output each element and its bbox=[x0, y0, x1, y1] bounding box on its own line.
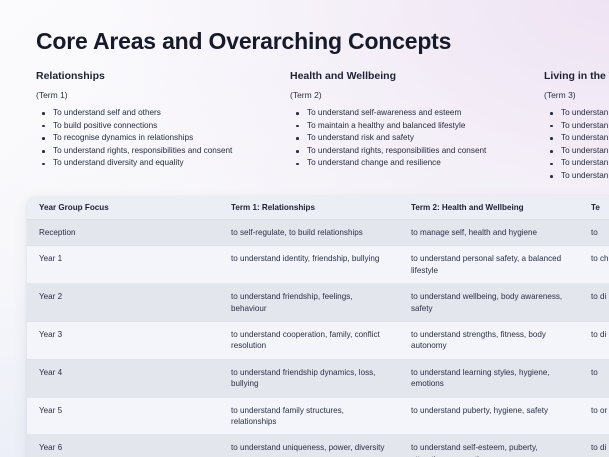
bullet-dot-icon bbox=[296, 163, 299, 166]
list-item: To understand risk and safety bbox=[290, 132, 544, 145]
bullet-dot-icon bbox=[42, 163, 45, 166]
list-item: To understand rights, responsibilities a… bbox=[36, 145, 290, 158]
column-header-term-3: Te bbox=[579, 196, 609, 220]
bullet-dot-icon bbox=[550, 175, 553, 178]
bullet-list-living-in-the-wider-world: To understan To understan To understan T… bbox=[544, 107, 609, 183]
bullet-dot-icon bbox=[296, 125, 299, 128]
cell-term-1: to understand uniqueness, power, diversi… bbox=[219, 435, 399, 457]
cell-term-3: to bbox=[579, 220, 609, 246]
column-heading: Health and Wellbeing bbox=[290, 70, 544, 82]
list-item: To understand rights, responsibilities a… bbox=[290, 145, 544, 158]
list-item: To maintain a healthy and balanced lifes… bbox=[290, 120, 544, 133]
cell-term-3: to di bbox=[579, 322, 609, 360]
list-item-label: To understan bbox=[561, 158, 608, 167]
cell-term-2: to understand strengths, fitness, body a… bbox=[399, 322, 579, 360]
column-term-label: (Term 1) bbox=[36, 90, 290, 100]
core-area-column-living-in-the-wider-world: Living in the W (Term 3) To understan To… bbox=[544, 70, 609, 183]
cell-term-3: to di bbox=[579, 435, 609, 457]
list-item-label: To understand rights, responsibilities a… bbox=[53, 146, 232, 155]
cell-term-1: to understand family structures, relatio… bbox=[219, 397, 399, 435]
cell-term-1: to understand cooperation, family, confl… bbox=[219, 322, 399, 360]
list-item: To understan bbox=[544, 107, 609, 120]
list-item: To build positive connections bbox=[36, 120, 290, 133]
column-term-label: (Term 2) bbox=[290, 90, 544, 100]
list-item-label: To maintain a healthy and balanced lifes… bbox=[307, 121, 465, 130]
page-title: Core Areas and Overarching Concepts bbox=[36, 28, 451, 55]
list-item-label: To recognise dynamics in relationships bbox=[53, 133, 193, 142]
cell-year-group: Year 5 bbox=[27, 397, 219, 435]
list-item-label: To understand diversity and equality bbox=[53, 158, 184, 167]
cell-term-1: to self-regulate, to build relationships bbox=[219, 220, 399, 246]
table-row: Year 1 to understand identity, friendshi… bbox=[27, 246, 609, 284]
bullet-dot-icon bbox=[42, 125, 45, 128]
cell-term-3: to bbox=[579, 359, 609, 397]
cell-term-2: to understand puberty, hygiene, safety bbox=[399, 397, 579, 435]
cell-term-2: to understand learning styles, hygiene, … bbox=[399, 359, 579, 397]
cell-term-3: to ch bbox=[579, 246, 609, 284]
list-item-label: To understan bbox=[561, 146, 608, 155]
cell-year-group: Year 1 bbox=[27, 246, 219, 284]
bullet-dot-icon bbox=[550, 150, 553, 153]
list-item-label: To understan bbox=[561, 121, 608, 130]
cell-year-group: Reception bbox=[27, 220, 219, 246]
column-heading: Relationships bbox=[36, 70, 290, 82]
list-item: To understand self and others bbox=[36, 107, 290, 120]
bullet-dot-icon bbox=[296, 137, 299, 140]
cell-term-3: to or bbox=[579, 397, 609, 435]
table-row: Year 6 to understand uniqueness, power, … bbox=[27, 435, 609, 457]
year-group-progression-table: Year Group Focus Term 1: Relationships T… bbox=[27, 196, 609, 457]
list-item-label: To understan bbox=[561, 108, 608, 117]
list-item-label: To understand change and resilience bbox=[307, 158, 441, 167]
cell-term-1: to understand friendship dynamics, loss,… bbox=[219, 359, 399, 397]
table-header-row: Year Group Focus Term 1: Relationships T… bbox=[27, 196, 609, 220]
cell-year-group: Year 2 bbox=[27, 284, 219, 322]
cell-year-group: Year 6 bbox=[27, 435, 219, 457]
list-item: To recognise dynamics in relationships bbox=[36, 132, 290, 145]
cell-term-1: to understand friendship, feelings, beha… bbox=[219, 284, 399, 322]
cell-term-2: to understand personal safety, a balance… bbox=[399, 246, 579, 284]
bullet-list-health-and-wellbeing: To understand self-awareness and esteem … bbox=[290, 107, 544, 170]
core-area-column-relationships: Relationships (Term 1) To understand sel… bbox=[36, 70, 290, 170]
table-row: Year 5 to understand family structures, … bbox=[27, 397, 609, 435]
list-item: To understan bbox=[544, 170, 609, 183]
core-area-column-health-and-wellbeing: Health and Wellbeing (Term 2) To underst… bbox=[290, 70, 544, 170]
bullet-list-relationships: To understand self and others To build p… bbox=[36, 107, 290, 170]
cell-term-2: to understand wellbeing, body awareness,… bbox=[399, 284, 579, 322]
column-heading: Living in the W bbox=[544, 70, 609, 82]
column-header-term-1: Term 1: Relationships bbox=[219, 196, 399, 220]
list-item-label: To understand self and others bbox=[53, 108, 161, 117]
column-term-label: (Term 3) bbox=[544, 90, 609, 100]
bullet-dot-icon bbox=[42, 150, 45, 153]
cell-term-2: to understand self-esteem, puberty, attr… bbox=[399, 435, 579, 457]
list-item: To understan bbox=[544, 120, 609, 133]
bullet-dot-icon bbox=[296, 150, 299, 153]
bullet-dot-icon bbox=[550, 163, 553, 166]
list-item-label: To understan bbox=[561, 171, 608, 180]
table-row: Year 4 to understand friendship dynamics… bbox=[27, 359, 609, 397]
list-item-label: To build positive connections bbox=[53, 121, 157, 130]
list-item: To understand diversity and equality bbox=[36, 157, 290, 170]
list-item: To understan bbox=[544, 145, 609, 158]
cell-term-2: to manage self, health and hygiene bbox=[399, 220, 579, 246]
column-header-year-group-focus: Year Group Focus bbox=[27, 196, 219, 220]
list-item: To understan bbox=[544, 132, 609, 145]
table-row: Reception to self-regulate, to build rel… bbox=[27, 220, 609, 246]
list-item-label: To understand self-awareness and esteem bbox=[307, 108, 461, 117]
bullet-dot-icon bbox=[550, 137, 553, 140]
column-header-term-2: Term 2: Health and Wellbeing bbox=[399, 196, 579, 220]
cell-year-group: Year 4 bbox=[27, 359, 219, 397]
bullet-dot-icon bbox=[296, 112, 299, 115]
cell-year-group: Year 3 bbox=[27, 322, 219, 360]
cell-term-3: to di bbox=[579, 284, 609, 322]
slide-canvas: Core Areas and Overarching Concepts Rela… bbox=[0, 0, 609, 457]
core-areas-columns: Relationships (Term 1) To understand sel… bbox=[36, 70, 609, 183]
list-item-label: To understan bbox=[561, 133, 608, 142]
list-item-label: To understand risk and safety bbox=[307, 133, 414, 142]
bullet-dot-icon bbox=[550, 125, 553, 128]
list-item: To understand self-awareness and esteem bbox=[290, 107, 544, 120]
bullet-dot-icon bbox=[550, 112, 553, 115]
cell-term-1: to understand identity, friendship, bull… bbox=[219, 246, 399, 284]
list-item: To understand change and resilience bbox=[290, 157, 544, 170]
table-row: Year 2 to understand friendship, feeling… bbox=[27, 284, 609, 322]
bullet-dot-icon bbox=[42, 112, 45, 115]
table-body: Reception to self-regulate, to build rel… bbox=[27, 220, 609, 457]
list-item-label: To understand rights, responsibilities a… bbox=[307, 146, 486, 155]
table-row: Year 3 to understand cooperation, family… bbox=[27, 322, 609, 360]
bullet-dot-icon bbox=[42, 137, 45, 140]
list-item: To understan bbox=[544, 157, 609, 170]
progression-matrix: Year Group Focus Term 1: Relationships T… bbox=[27, 196, 609, 457]
table-header: Year Group Focus Term 1: Relationships T… bbox=[27, 196, 609, 220]
